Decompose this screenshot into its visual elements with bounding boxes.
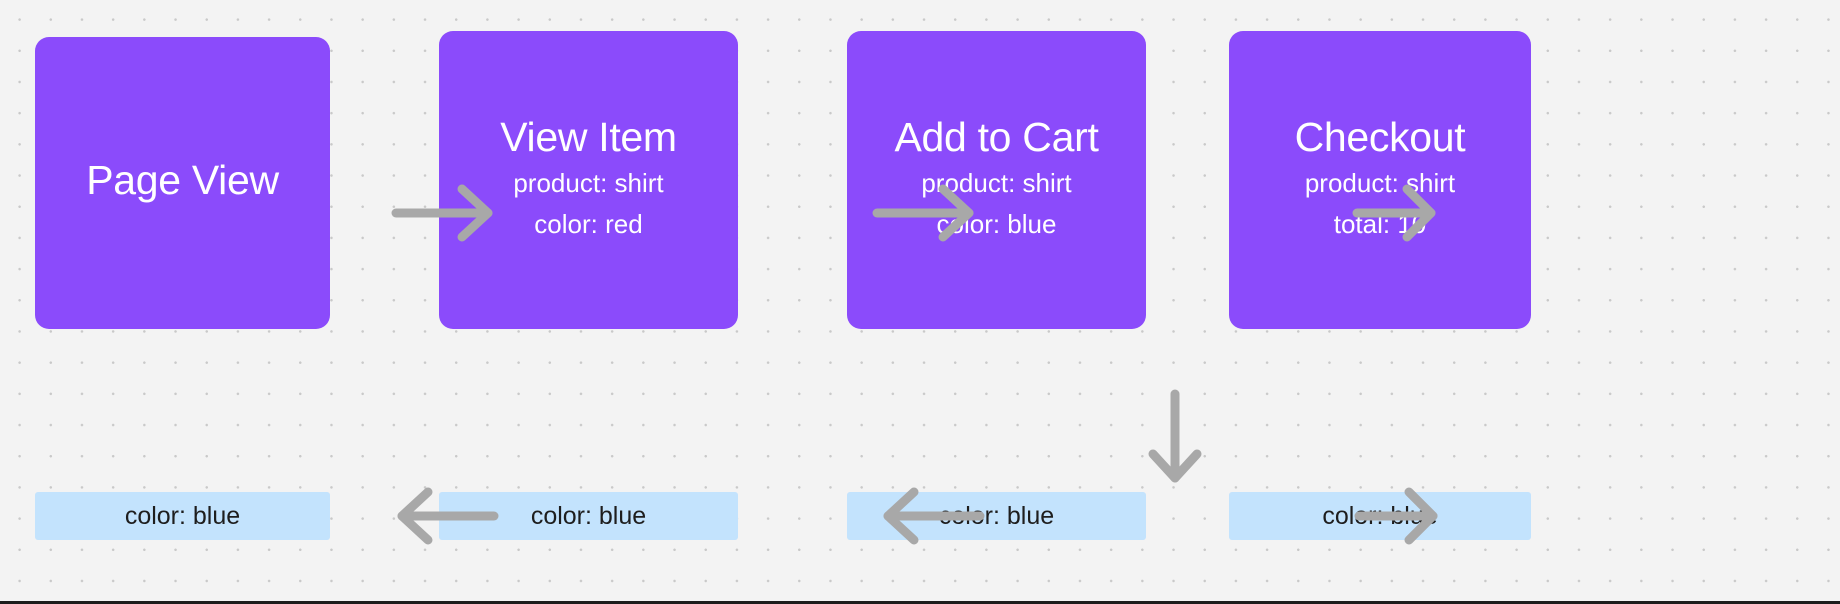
event-node-attribute: color: red <box>534 204 642 244</box>
event-node-page-view[interactable]: Page View <box>35 37 330 329</box>
event-node-add-to-cart[interactable]: Add to Cart product: shirt color: blue <box>847 31 1146 329</box>
event-node-title: View Item <box>500 116 677 159</box>
arrow-down-icon <box>1145 390 1205 490</box>
event-node-attribute: color: blue <box>937 204 1057 244</box>
event-node-attribute: product: shirt <box>1305 163 1455 203</box>
event-node-title: Add to Cart <box>894 116 1098 159</box>
event-node-checkout[interactable]: Checkout product: shirt total: 10 <box>1229 31 1531 329</box>
diagram-canvas: Page View View Item product: shirt color… <box>0 0 1840 604</box>
property-node-label: color: blue <box>1322 502 1437 531</box>
property-node-2[interactable]: color: blue <box>439 492 738 540</box>
event-node-attribute: product: shirt <box>921 163 1071 203</box>
property-node-label: color: blue <box>125 502 240 531</box>
event-node-title: Checkout <box>1295 116 1466 159</box>
property-node-1[interactable]: color: blue <box>35 492 330 540</box>
event-node-attributes: product: shirt color: red <box>513 163 663 244</box>
property-node-4[interactable]: color: blue <box>1229 492 1531 540</box>
event-node-attribute: product: shirt <box>513 163 663 203</box>
event-node-title: Page View <box>86 159 279 202</box>
property-node-label: color: blue <box>939 502 1054 531</box>
event-node-view-item[interactable]: View Item product: shirt color: red <box>439 31 738 329</box>
event-node-attributes: product: shirt total: 10 <box>1305 163 1455 244</box>
property-node-3[interactable]: color: blue <box>847 492 1146 540</box>
event-node-attributes: product: shirt color: blue <box>921 163 1071 244</box>
property-node-label: color: blue <box>531 502 646 531</box>
event-node-attribute: total: 10 <box>1334 204 1427 244</box>
